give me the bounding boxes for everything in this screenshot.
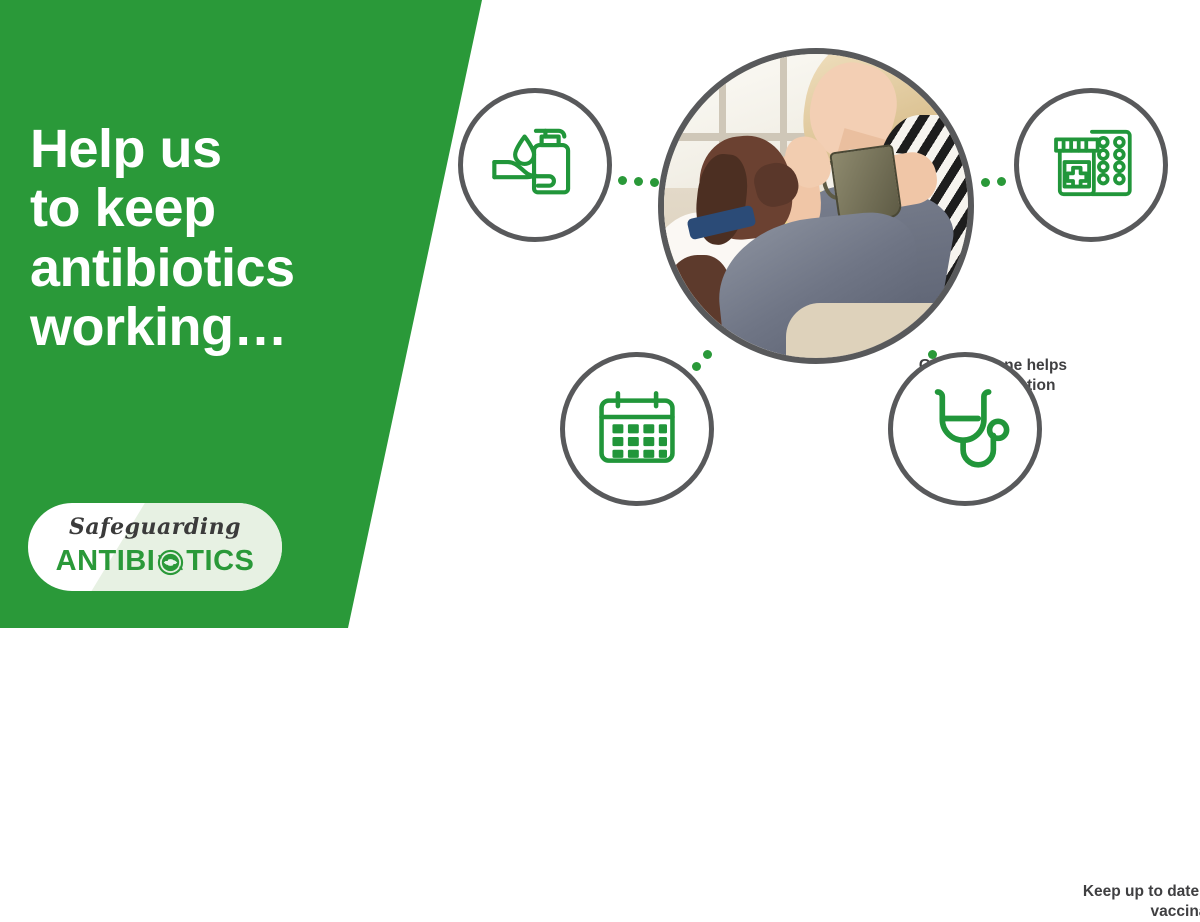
medicine-icon-circle xyxy=(1014,88,1168,242)
logo-main-word: ANTIBI TICS xyxy=(28,545,282,578)
hygiene-node: Good hygiene helps prevent infection xyxy=(458,88,612,242)
calendar-node: Keep up to date with your pet's vaccinat… xyxy=(560,352,714,506)
stethoscope-icon xyxy=(913,375,1017,484)
pill-bottle-and-blister-pack-icon xyxy=(1039,111,1143,220)
stethoscope-node: Trust your vet's advice on when antimicr… xyxy=(888,352,1042,506)
calendar-icon-circle xyxy=(560,352,714,506)
page-title: Help us to keep antibiotics working… xyxy=(30,120,400,358)
microbe-icon xyxy=(157,549,184,576)
safeguarding-antibiotics-logo: Safeguarding ANTIBI TICS xyxy=(28,503,282,591)
woman-and-dog-photo xyxy=(658,48,974,364)
medicine-node: Always use antimicrobials as prescribed xyxy=(1014,88,1168,242)
center-photo-node xyxy=(658,48,974,364)
logo-word-part-2: TICS xyxy=(186,545,254,578)
calendar-caption: Keep up to date with your pet's vaccinat… xyxy=(1040,882,1200,922)
logo-word-part-1: ANTIBI xyxy=(56,545,156,578)
calendar-icon xyxy=(587,377,687,482)
logo-script-word: Safeguarding xyxy=(28,514,282,540)
hand-sanitizer-icon xyxy=(483,111,587,220)
stethoscope-icon-circle xyxy=(888,352,1042,506)
hygiene-icon-circle xyxy=(458,88,612,242)
